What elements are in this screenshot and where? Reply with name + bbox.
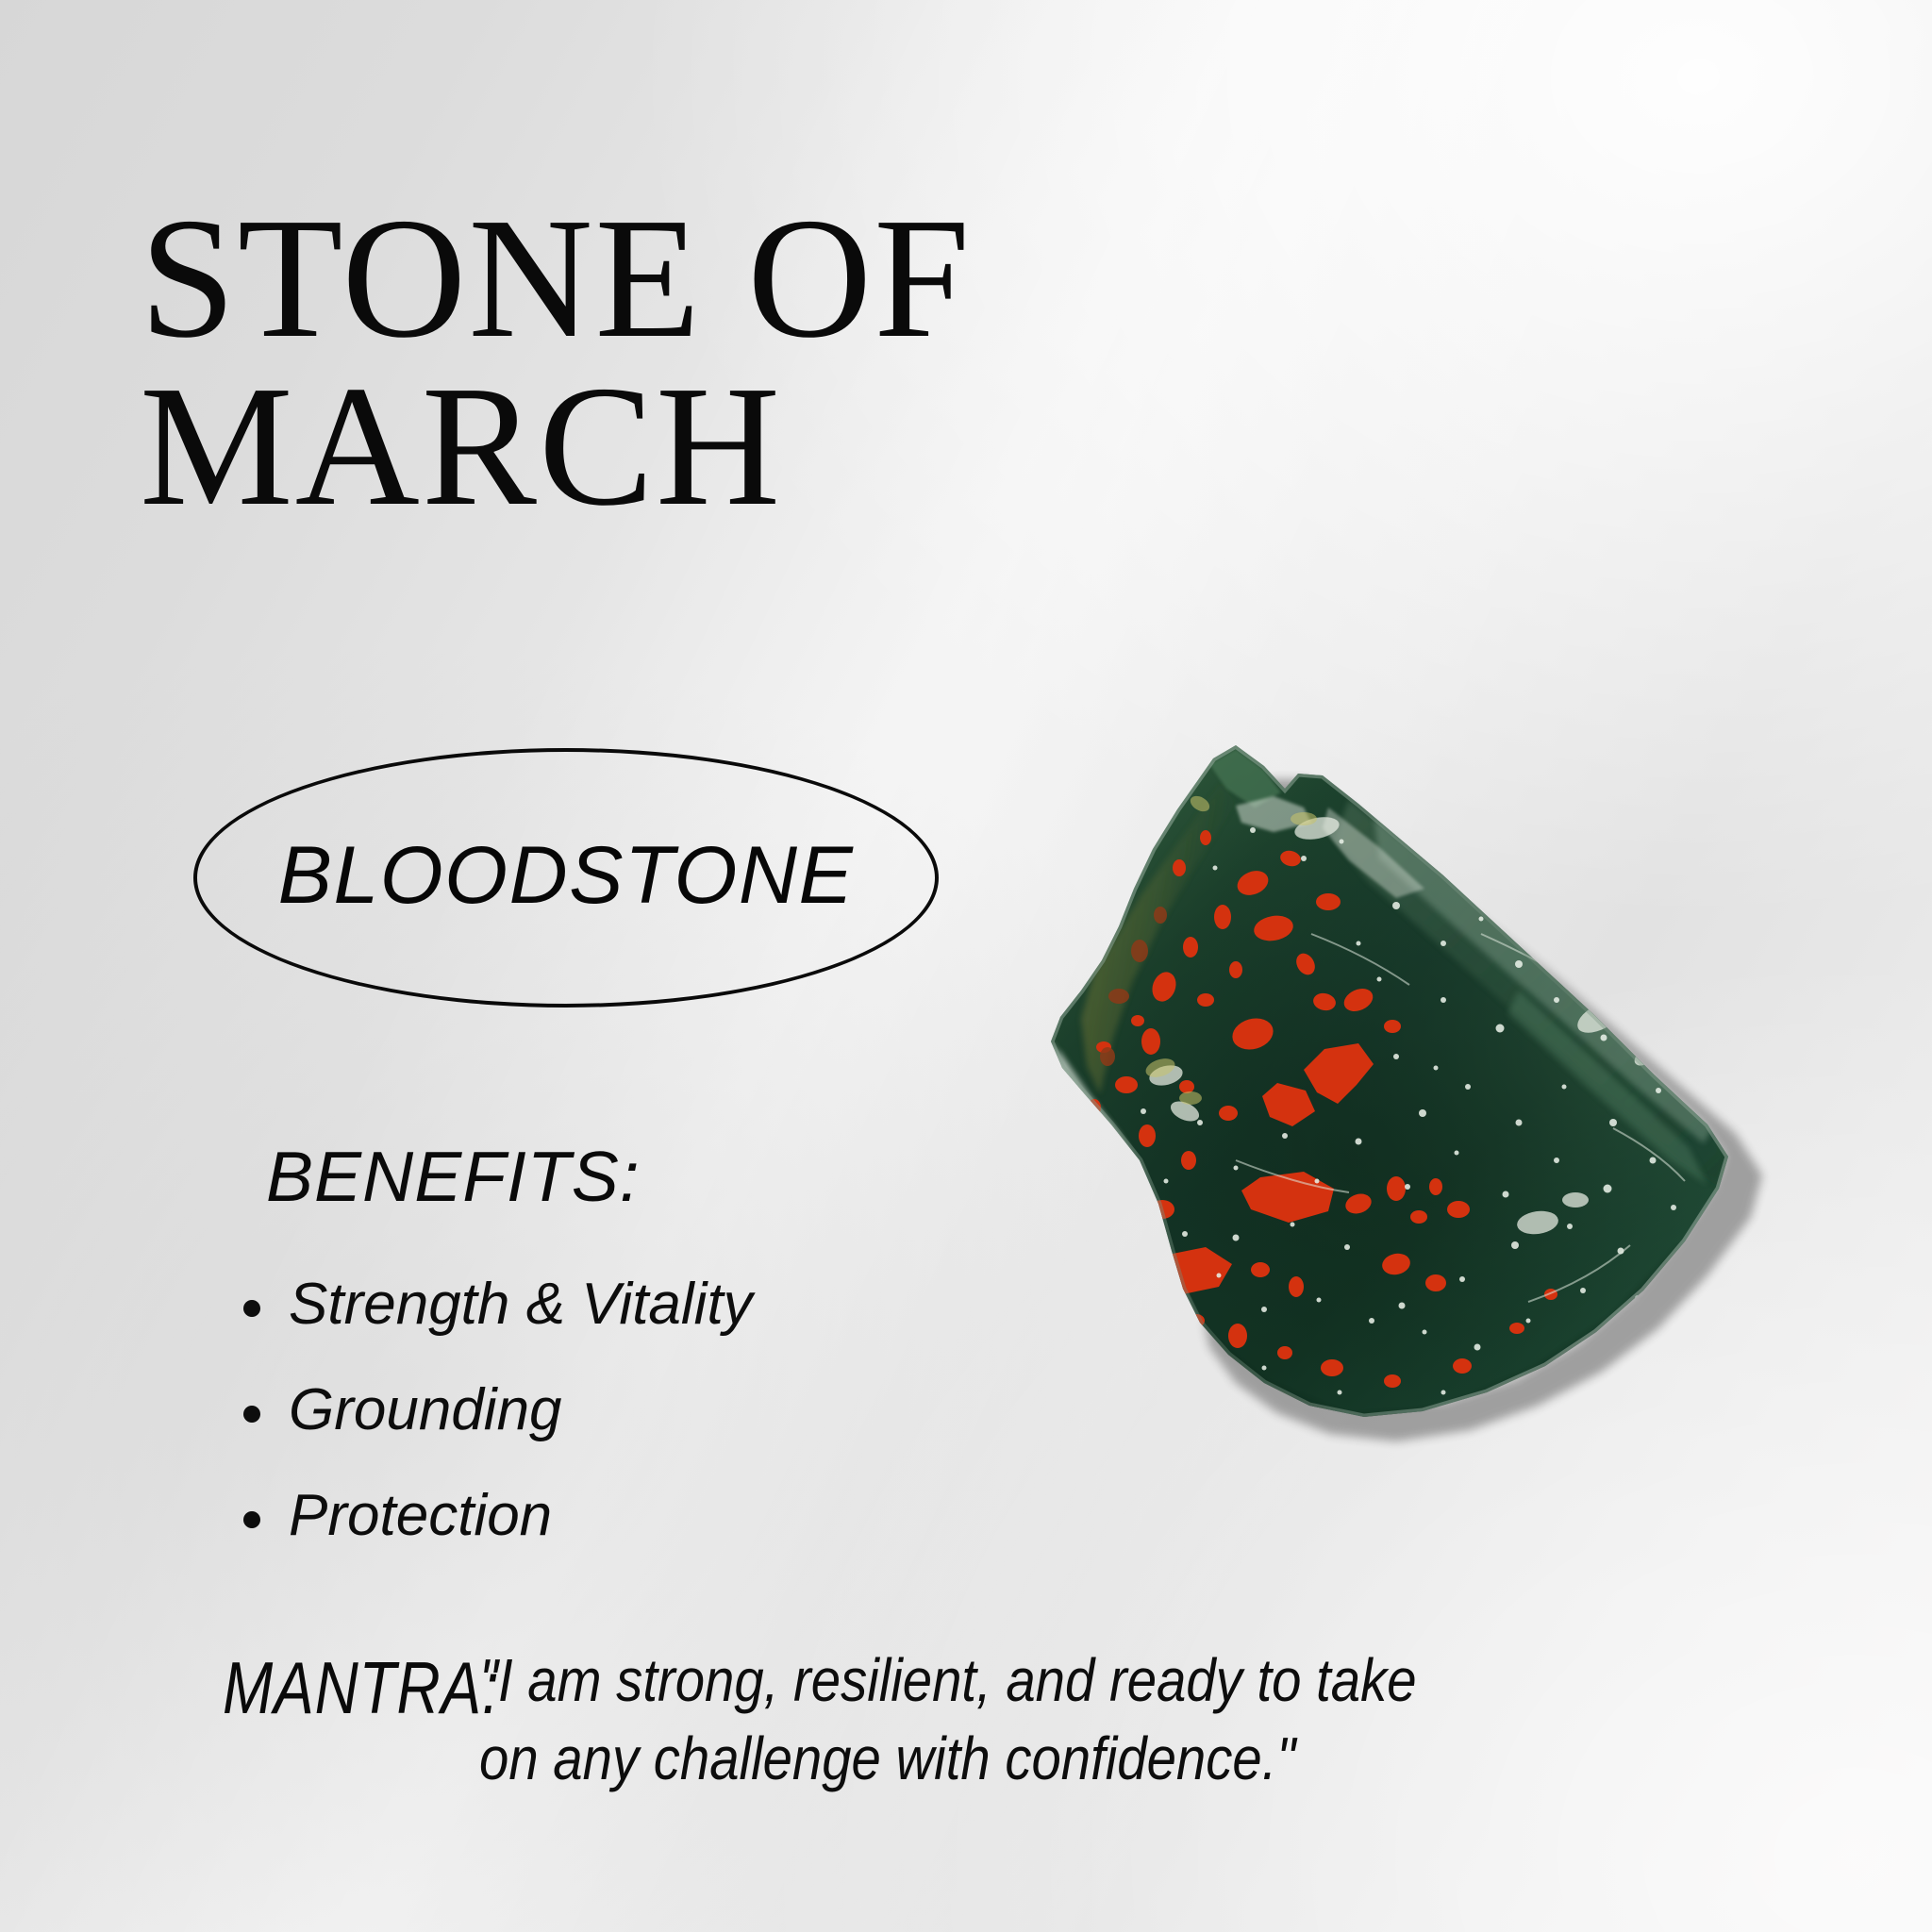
bullet-icon: [243, 1300, 260, 1317]
benefits-heading: BENEFITS:: [266, 1136, 983, 1217]
page-title: STONE OF MARCH: [140, 194, 1253, 529]
list-item: Grounding: [243, 1381, 983, 1440]
benefit-label: Strength & Vitality: [289, 1275, 983, 1334]
badge-label: BLOODSTONE: [193, 748, 939, 1008]
mantra-label: MANTRA:: [223, 1641, 500, 1731]
benefit-label: Protection: [289, 1487, 983, 1545]
benefit-label: Grounding: [289, 1381, 983, 1440]
title-line-1: STONE OF: [140, 194, 1253, 362]
list-item: Strength & Vitality: [243, 1275, 983, 1334]
bullet-icon: [243, 1511, 260, 1528]
list-item: Protection: [243, 1487, 983, 1545]
poster-canvas: STONE OF MARCH BLOODSTONE BENEFITS: Stre…: [0, 0, 1932, 1932]
mantra-section: MANTRA: "I am strong, resilient, and rea…: [223, 1641, 1807, 1798]
bloodstone-illustration: [953, 717, 1821, 1500]
mantra-text: "I am strong, resilient, and ready to ta…: [479, 1641, 1417, 1798]
bullet-icon: [243, 1406, 260, 1423]
benefits-section: BENEFITS: Strength & Vitality Grounding …: [266, 1136, 983, 1592]
title-line-2: MARCH: [140, 362, 1253, 530]
benefits-list: Strength & Vitality Grounding Protection: [266, 1275, 983, 1545]
bloodstone-image: [953, 717, 1821, 1500]
stone-name-badge: BLOODSTONE: [193, 748, 939, 1008]
